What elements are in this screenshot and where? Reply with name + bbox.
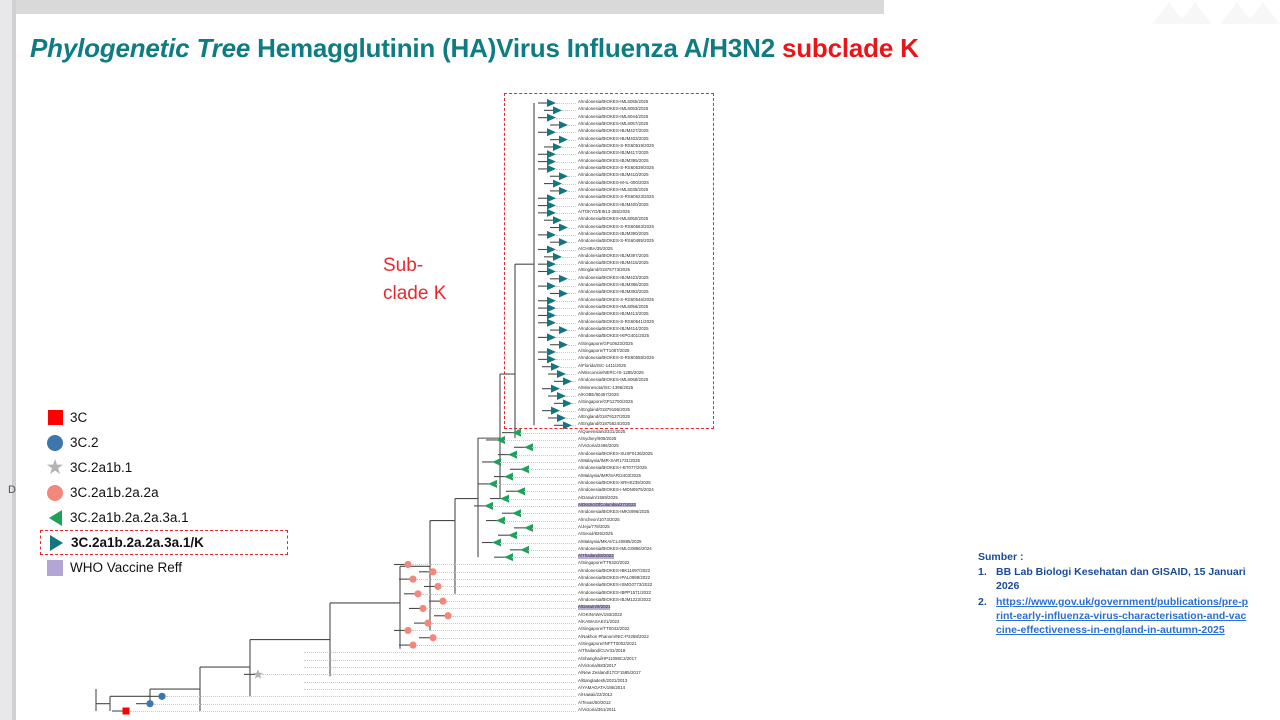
legend-symbol-3c2 — [40, 435, 70, 451]
tip-leader — [432, 623, 576, 624]
tip-label: A/Victoria/361/2011 — [578, 708, 616, 712]
tip-label: A/Indonesia/BIOKES-S-RS60539/2025 — [578, 166, 654, 170]
tip-leader — [492, 506, 576, 507]
tip-label: A/Indonesia/BIOKES-IBJM400/2025 — [578, 203, 649, 207]
tip-label: A/KOBE/90457/2025 — [578, 393, 619, 397]
source-block: Sumber : 1. BB Lab Biologi Kesehatan dan… — [978, 550, 1248, 637]
tip-label: A/Bangladesh/2021/2013 — [578, 679, 627, 683]
tip-leader — [532, 528, 576, 529]
tip-leader — [520, 513, 576, 514]
source-link[interactable]: https://www.gov.uk/government/publicatio… — [996, 595, 1248, 638]
tip-label: A/Wisconsin/NERC-IS-1285/2025 — [578, 371, 644, 375]
tip-leader — [504, 440, 576, 441]
tip-label-who-ref: A/Darwin/9/2021 — [578, 605, 610, 609]
tip-label: A/Indonesia/BIOKES-IBK11097/2022 — [578, 569, 650, 573]
tip-leader — [422, 594, 576, 595]
tip-label: A/Indonesia/BIOKES-IML6057/2025 — [578, 122, 648, 126]
tip-leader — [556, 206, 576, 207]
tip-leader — [572, 403, 576, 404]
legend-symbol-triangle-right-icon — [41, 535, 71, 551]
tip-leader — [304, 667, 576, 668]
tip-leader — [556, 213, 576, 214]
tip-label: A/Indonesia/BIOKES-S-RS60519/2025 — [578, 144, 654, 148]
tip-leader — [304, 689, 576, 690]
tip-label: A/Indonesia/BIOKES-IBJM397/2025 — [578, 254, 649, 258]
tip-leader — [572, 425, 576, 426]
tip-leader — [512, 477, 576, 478]
tip-label: A/Florida/ISC-1411/2025 — [578, 364, 626, 368]
tip-label: A/Indonesia/BIOKES-IML6053/2025 — [578, 107, 648, 111]
tip-label: A/YAMAGATA/186/2014 — [578, 686, 625, 690]
tip-leader — [566, 396, 576, 397]
tip-label: A/Nakhon Phanom/NIC-P2268/2022 — [578, 635, 649, 639]
tip-label: A/Indonesia/BIOKES-ISMG0773/2022 — [578, 583, 652, 587]
tip-leader — [452, 616, 576, 617]
tip-leader — [556, 118, 576, 119]
legend-symbol-3c — [40, 410, 70, 425]
tip-leader — [496, 484, 576, 485]
tip-leader — [556, 359, 576, 360]
legend-label: 3C — [70, 410, 87, 425]
tip-label: A/KAWASAKI/1/2022 — [578, 620, 619, 624]
tip-label: A/New Zealand/17CF1585/2017 — [578, 671, 641, 675]
tip-leader — [262, 674, 576, 675]
tip-label: A/Indonesia/BIOKES-IPAL0899/2022 — [578, 576, 650, 580]
tip-leader — [500, 543, 576, 544]
tip-label: A/Indonesia/BIOKES-IBJM415/2025 — [578, 261, 649, 265]
tip-label: A/Indonesia/BIOKES-S-RS60523/2025 — [578, 195, 654, 199]
tip-label: A/Indonesia/BIOKES-I-MDN0975/2024 — [578, 488, 654, 492]
tip-leader — [568, 242, 576, 243]
tip-leader — [417, 645, 576, 646]
tip-leader — [568, 228, 576, 229]
tip-leader — [556, 271, 576, 272]
tip-leader — [504, 521, 576, 522]
tip-leader — [562, 184, 576, 185]
tip-leader — [562, 147, 576, 148]
tip-leader — [166, 696, 576, 697]
tip-leader — [568, 330, 576, 331]
tip-leader — [304, 660, 576, 661]
tip-leader — [566, 418, 576, 419]
tip-label: A/Singapore/GP10633/2025 — [578, 342, 633, 346]
tip-leader — [154, 704, 576, 705]
tip-leader — [560, 367, 576, 368]
tip-leader — [556, 308, 576, 309]
tip-leader — [562, 110, 576, 111]
tip-label: A/Malaysia/IMR/SAR/2403/2025 — [578, 474, 641, 478]
tip-leader — [556, 154, 576, 155]
tip-leader — [516, 535, 576, 536]
tip-leader — [520, 433, 576, 434]
tip-label: A/Indonesia/BIOKES-I-BT077/2025 — [578, 466, 647, 470]
tip-leader — [568, 191, 576, 192]
tip-label: A/Texas/50/2012 — [578, 701, 611, 705]
tip-label: A/Indonesia/BIOKES-S-RS60563/2025 — [578, 225, 654, 229]
tip-label: A/Indonesia/BIOKES-IKPG401/2025 — [578, 334, 649, 338]
tip-label-who-ref: A/Thailand/8/2022 — [578, 554, 614, 558]
tip-label: A/CHIBA/35/2025 — [578, 247, 613, 251]
legend-label: 3C.2a1b.2a.2a — [70, 485, 159, 500]
tip-leader — [556, 301, 576, 302]
tip-leader — [556, 162, 576, 163]
tip-label: A/Indonesia/BIOKES-M-IL-000/2025 — [578, 181, 649, 185]
tip-label: A/Indonesia/BIOKES-IBJM1223/2022 — [578, 598, 651, 602]
tip-label: A/Indonesia/BIOKES-IML6058/2025 — [578, 378, 648, 382]
tip-label: A/England/01879137/2025 — [578, 415, 630, 419]
tip-leader — [528, 550, 576, 551]
tip-leader — [556, 198, 576, 199]
tip-label: A/OKINAWA/193/2022 — [578, 613, 622, 617]
source-item: 2. https://www.gov.uk/government/publica… — [978, 595, 1248, 638]
tip-leader — [568, 176, 576, 177]
tip-label: A/Indonesia/BIOKES-IBJM390/2025 — [578, 232, 649, 236]
tip-label: A/Indonesia/BIOKES-IBPP1571/2022 — [578, 591, 651, 595]
tip-label: A/Singapore/INFTT0002/2021 — [578, 642, 637, 646]
tip-leader — [508, 499, 576, 500]
tip-label: A/Malaysia/MKAI/CL40885/2025 — [578, 540, 641, 544]
tip-label: A/Indonesia/BIOKES-IMKS996/2025 — [578, 510, 649, 514]
tip-label: A/Darwin/1569/2025 — [578, 496, 618, 500]
tip-label: A/Indonesia/BIOKES-SRHS239/2025 — [578, 481, 651, 485]
source-number: 1. — [978, 565, 996, 593]
tip-label: A/Jeju/778/2025 — [578, 525, 610, 529]
tip-leader — [532, 447, 576, 448]
legend-label: 3C.2a1b.2a.2a.3a.1 — [70, 510, 189, 525]
tip-leader — [566, 374, 576, 375]
legend-symbol-who-ref — [40, 560, 70, 576]
tip-label: A/Malaysia/IMR-SAR1731/2025 — [578, 459, 640, 463]
tip-leader — [524, 491, 576, 492]
tip-label: A/Indonesia/BIOKES-IML6035/2025 — [578, 188, 648, 192]
legend-item[interactable]: 3C.2a1b.2a.2a — [40, 480, 290, 505]
tip-label: A/England/01875773/2025 — [578, 268, 630, 272]
tip-label: A/Indonesia/BIOKES-IML6056/2025 — [578, 305, 648, 309]
legend-item[interactable]: 3C — [40, 405, 290, 430]
source-text: BB Lab Biologi Kesehatan dan GISAID, 15 … — [996, 565, 1248, 593]
tip-label: A/Seoul/826/2025 — [578, 532, 613, 536]
legend-item[interactable]: 3C.2a1b.2a.2a.3a.1 — [40, 505, 290, 530]
tip-label: A/Indonesia/BIOKES-IML6055/2025 — [578, 100, 648, 104]
tip-label: A/Queensland/331/2025 — [578, 430, 625, 434]
tip-label: A/Indonesia/BIOKES-S-RS60485/2025 — [578, 239, 654, 243]
tip-leader — [437, 638, 576, 639]
tip-label: A/Indonesia/BIOKES-IBJM413/2025 — [578, 312, 649, 316]
tip-label: A/Victoria/2466/2025 — [578, 444, 619, 448]
tip-leader — [568, 125, 576, 126]
tip-label: A/Indonesia/BIOKES-S-RS60541/2025 — [578, 320, 654, 324]
tip-leader — [130, 711, 576, 712]
legend-label: 3C.2a1b.1 — [70, 460, 132, 475]
tip-label: A/Indonesia/BIOKES-S-RS60558/2025 — [578, 356, 654, 360]
legend-item[interactable]: WHO Vaccine Reff — [40, 555, 290, 580]
tip-label: A/Minnesota/ISC-1396/2025 — [578, 386, 633, 390]
tip-leader — [562, 220, 576, 221]
tip-leader — [512, 557, 576, 558]
legend-symbol-star-icon: ★ — [40, 457, 70, 478]
legend-symbol-2a2a — [40, 485, 70, 501]
legend-symbol-triangle-left-icon — [40, 510, 70, 526]
tip-label: A/Indonesia/BIOKES-IML6044/2025 — [578, 115, 648, 119]
legend-item[interactable]: ★ 3C.2a1b.1 — [40, 455, 290, 480]
tip-leader — [556, 103, 576, 104]
tip-label-who-ref: A/DistrictOfColumbia/27/2023 — [578, 503, 636, 507]
tip-leader — [556, 337, 576, 338]
tip-leader — [560, 389, 576, 390]
tip-leader — [556, 323, 576, 324]
tip-label: A/Indonesia/BIOKES-IBJM403/2025 — [578, 137, 649, 141]
tip-leader — [417, 579, 576, 580]
tip-leader — [412, 564, 576, 565]
tip-label: A/Incheon/1073/2025 — [578, 518, 620, 522]
tip-label: A/Victoria/683/2017 — [578, 664, 616, 668]
source-number: 2. — [978, 595, 996, 638]
tip-label: A/Indonesia/BIOKES-IBJM386/2025 — [578, 283, 649, 287]
tip-leader — [556, 315, 576, 316]
tip-leader — [568, 293, 576, 294]
tip-label: A/England/01879196/2025 — [578, 408, 630, 412]
legend-item[interactable]: 3C.2 — [40, 430, 290, 455]
tip-leader — [556, 286, 576, 287]
tip-leader — [442, 586, 576, 587]
tip-label: A/Indonesia/BIOKES-SUSF0136/2025 — [578, 452, 653, 456]
tip-label: A/Indonesia/BIOKES-IBJM417/2025 — [578, 151, 649, 155]
source-header: Sumber : — [978, 550, 1248, 564]
tip-label: A/Indonesia/BIOKES-IBJM427/2025 — [578, 129, 649, 133]
tip-leader — [556, 132, 576, 133]
tip-leader — [437, 572, 576, 573]
tip-label: A/Indonesia/BIOKES-IMLG0886/2024 — [578, 547, 652, 551]
tip-label: A/Sydney/905/2025 — [578, 437, 616, 441]
tip-leader — [556, 250, 576, 251]
legend-label: WHO Vaccine Reff — [70, 560, 182, 575]
tip-label: A/Indonesia/BIOKES-IML6050/2025 — [578, 217, 648, 221]
tip-leader — [568, 140, 576, 141]
tip-label: A/Indonesia/BIOKES-IBJM423/2025 — [578, 276, 649, 280]
tip-leader — [528, 469, 576, 470]
tip-label: A/Indonesia/BIOKES-IBJM410/2025 — [578, 173, 649, 177]
tip-label: A/Indonesia/BIOKES-IBJM393/2025 — [578, 290, 649, 294]
tip-label: A/Singapore/GP12700/2025 — [578, 400, 633, 404]
tip-label: A/Singapore/TT1087/2025 — [578, 349, 630, 353]
tip-label: A/TOKYO/EI513-355/2025 — [578, 210, 630, 214]
tip-leader — [516, 455, 576, 456]
source-item: 1. BB Lab Biologi Kesehatan dan GISAID, … — [978, 565, 1248, 593]
tip-leader — [304, 682, 576, 683]
tip-leader — [412, 630, 576, 631]
tip-leader — [447, 601, 576, 602]
tip-label: A/Indonesia/BIOKES-IBJM414/2025 — [578, 327, 649, 331]
tip-leader — [304, 652, 576, 653]
tip-label: A/Thailand/CUV31/2018 — [578, 649, 625, 653]
legend-label: 3C.2 — [70, 435, 99, 450]
tip-leader — [556, 352, 576, 353]
tip-label: A/England/01875824/2025 — [578, 422, 630, 426]
tip-leader — [568, 279, 576, 280]
tip-label: A/Shanghai/HP11098C2/2017 — [578, 657, 637, 661]
tip-leader — [568, 345, 576, 346]
tip-leader — [556, 169, 576, 170]
tip-label: A/Hawaii/22/2012 — [578, 693, 612, 697]
tip-leader — [562, 257, 576, 258]
tip-leader — [556, 264, 576, 265]
tip-leader — [556, 235, 576, 236]
tip-label: A/Indonesia/BIOKES-IBJM395/2025 — [578, 159, 649, 163]
tip-leader — [427, 608, 576, 609]
tip-leader — [500, 462, 576, 463]
tip-leader — [572, 381, 576, 382]
tip-label: A/Singapore/TT9320/2022 — [578, 561, 630, 565]
legend: 3C 3C.2 ★ 3C.2a1b.1 3C.2a1b.2a.2a 3C.2a1… — [40, 405, 290, 580]
tip-leader — [560, 411, 576, 412]
tip-label: A/Indonesia/BIOKES-S-RS60546/2025 — [578, 298, 654, 302]
tip-label: A/Singapore/TT0042/2022 — [578, 627, 630, 631]
legend-item-subclade-k[interactable]: 3C.2a1b.2a.2a.3a.1/K — [40, 530, 288, 555]
legend-label: 3C.2a1b.2a.2a.3a.1/K — [71, 535, 204, 550]
